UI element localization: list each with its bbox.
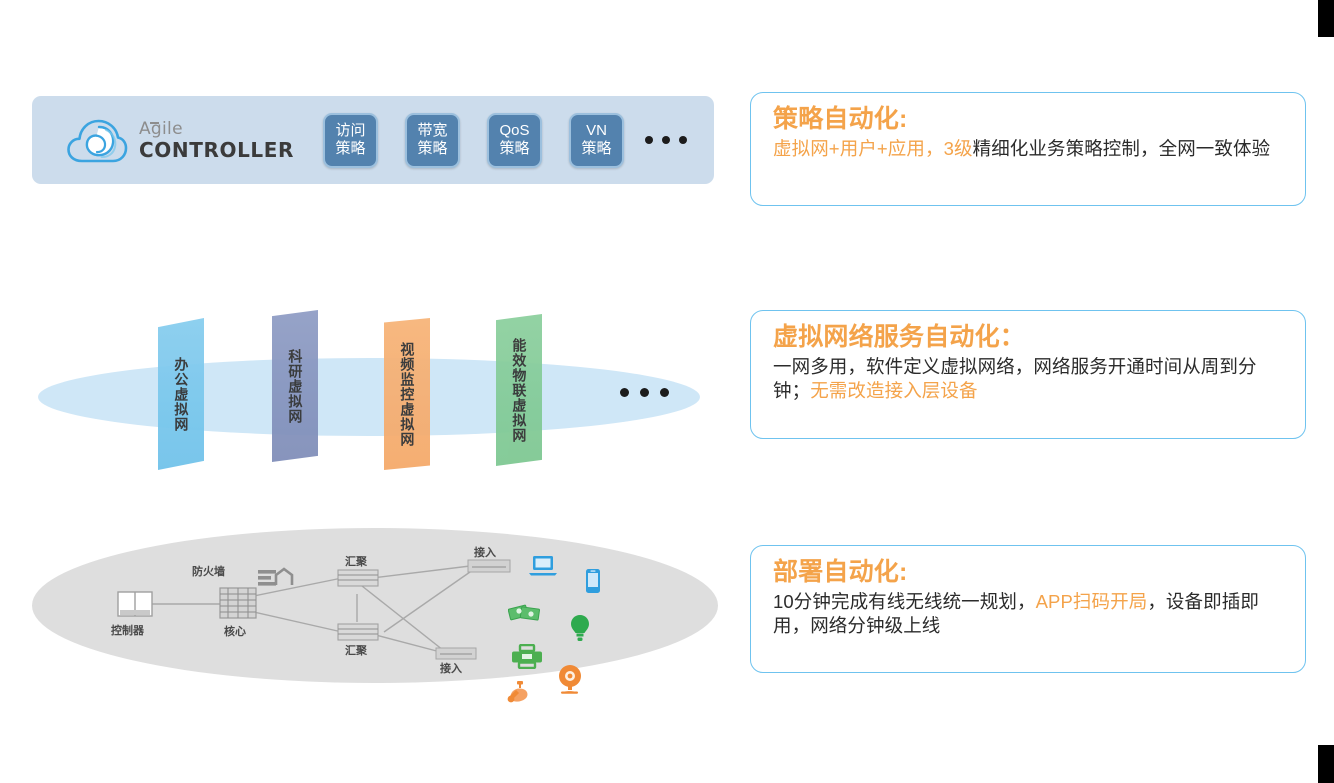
topology-node-aggregation-top bbox=[338, 570, 378, 586]
topology-node-access-top bbox=[468, 560, 510, 572]
topology-node-controller bbox=[118, 592, 152, 616]
dot bbox=[645, 136, 653, 144]
logo-brand-bottom: CONTROLLER bbox=[139, 140, 294, 160]
card-body-highlight: 无需改造接入层设备 bbox=[810, 380, 977, 401]
dot bbox=[679, 136, 687, 144]
topology-node-access-bottom bbox=[436, 648, 476, 659]
bottom-right-edge-mark bbox=[1318, 745, 1334, 783]
bulb-icon bbox=[570, 614, 590, 642]
agile-controller-logo: Agile CONTROLLER bbox=[66, 116, 294, 164]
topology-node-firewall bbox=[258, 569, 292, 586]
chip-line1: 访问 bbox=[336, 122, 366, 140]
virtual-network-ellipsis-icon bbox=[620, 388, 669, 397]
card-body-highlight: APP扫码开局 bbox=[1036, 591, 1148, 612]
agile-controller-bar: Agile CONTROLLER 访问 策略 带宽 策略 QoS 策略 VN 策… bbox=[32, 96, 714, 184]
logo-brand-top: Agile bbox=[139, 121, 183, 138]
feature-card-virtual-network-service-automation: 虚拟网络服务自动化： 一网多用，软件定义虚拟网络，网络服务开通时间从周到分钟；无… bbox=[750, 310, 1306, 439]
topology-label-firewall: 防火墙 bbox=[192, 563, 225, 579]
chip-line2: 策略 bbox=[336, 140, 366, 158]
policy-chip-qos[interactable]: QoS 策略 bbox=[487, 113, 542, 168]
chip-line1: VN bbox=[586, 122, 607, 140]
topology-label-access-top: 接入 bbox=[474, 544, 496, 560]
card-body-text: 10分钟完成有线无线统一规划， bbox=[773, 591, 1036, 612]
plane-sheet: 科研虚拟网 bbox=[272, 310, 318, 462]
topology-label-aggregation-bottom: 汇聚 bbox=[345, 642, 367, 658]
cloud-swirl-icon bbox=[66, 116, 128, 164]
logo-brand-top-text: Agile bbox=[139, 119, 183, 139]
plane-label: 科研虚拟网 bbox=[272, 310, 318, 462]
card-body-highlight: 虚拟网+用户+应用，3级 bbox=[773, 138, 973, 159]
plane-sheet: 能效物联虚拟网 bbox=[496, 314, 542, 466]
card-body: 10分钟完成有线无线统一规划，APP扫码开局，设备即插即用，网络分钟级上线 bbox=[773, 590, 1285, 640]
cash-icon bbox=[508, 600, 542, 624]
surveillance-camera-icon bbox=[506, 680, 536, 704]
card-title: 虚拟网络服务自动化： bbox=[773, 323, 1285, 353]
virtual-network-plane-research[interactable]: 科研虚拟网 bbox=[272, 310, 318, 462]
card-body-text: 精细化业务策略控制，全网一致体验 bbox=[973, 138, 1271, 159]
printer-icon bbox=[510, 644, 544, 669]
tablet-icon bbox=[584, 568, 602, 594]
feature-card-policy-automation: 策略自动化: 虚拟网+用户+应用，3级精细化业务策略控制，全网一致体验 bbox=[750, 92, 1306, 206]
topology-label-controller: 控制器 bbox=[111, 622, 144, 638]
plane-label: 能效物联虚拟网 bbox=[496, 314, 542, 466]
card-body: 一网多用，软件定义虚拟网络，网络服务开通时间从周到分钟；无需改造接入层设备 bbox=[773, 355, 1285, 405]
virtual-network-plane-video-surveillance[interactable]: 视频监控虚拟网 bbox=[384, 318, 430, 470]
webcam-icon bbox=[556, 664, 584, 694]
chip-line1: 带宽 bbox=[418, 122, 448, 140]
plane-sheet: 视频监控虚拟网 bbox=[384, 318, 430, 470]
policy-chip-bandwidth[interactable]: 带宽 策略 bbox=[405, 113, 460, 168]
topology-label-core: 核心 bbox=[224, 623, 246, 639]
topology-label-aggregation-top: 汇聚 bbox=[345, 553, 367, 569]
topology-links-and-nodes bbox=[32, 528, 722, 688]
macron-accent bbox=[150, 122, 159, 124]
card-body: 虚拟网+用户+应用，3级精细化业务策略控制，全网一致体验 bbox=[773, 137, 1285, 162]
virtual-network-plane-office[interactable]: 办公虚拟网 bbox=[158, 318, 204, 470]
policy-chip-access[interactable]: 访问 策略 bbox=[323, 113, 378, 168]
chip-line2: 策略 bbox=[418, 140, 448, 158]
dot bbox=[640, 388, 649, 397]
feature-card-deployment-automation: 部署自动化: 10分钟完成有线无线统一规划，APP扫码开局，设备即插即用，网络分… bbox=[750, 545, 1306, 673]
card-title: 策略自动化: bbox=[773, 105, 1285, 135]
laptop-icon bbox=[528, 554, 558, 578]
dot bbox=[620, 388, 629, 397]
dot bbox=[662, 136, 670, 144]
virtual-network-backdrop-ellipse bbox=[38, 358, 700, 436]
topology-label-access-bottom: 接入 bbox=[440, 660, 462, 676]
policy-chip-ellipsis-icon bbox=[645, 136, 687, 144]
card-title: 部署自动化: bbox=[773, 558, 1285, 588]
chip-line2: 策略 bbox=[500, 140, 530, 158]
plane-sheet: 办公虚拟网 bbox=[158, 318, 204, 470]
topology-node-aggregation-bottom bbox=[338, 624, 378, 640]
topology-link-group bbox=[152, 566, 470, 654]
policy-chip-vn[interactable]: VN 策略 bbox=[569, 113, 624, 168]
virtual-network-plane-energy-iot[interactable]: 能效物联虚拟网 bbox=[496, 314, 542, 466]
top-right-edge-mark bbox=[1318, 0, 1334, 37]
chip-line2: 策略 bbox=[582, 140, 612, 158]
network-topology-diagram: 控制器 防火墙 核心 汇聚 汇聚 接入 接入 bbox=[32, 528, 722, 688]
plane-label: 办公虚拟网 bbox=[158, 318, 204, 470]
topology-node-core bbox=[220, 588, 256, 618]
chip-line1: QoS bbox=[500, 122, 530, 140]
policy-chip-group: 访问 策略 带宽 策略 QoS 策略 VN 策略 bbox=[323, 113, 687, 168]
virtual-network-diagram: 办公虚拟网 科研虚拟网 视频监控虚拟网 能效物联虚拟网 bbox=[32, 296, 722, 496]
dot bbox=[660, 388, 669, 397]
plane-label: 视频监控虚拟网 bbox=[384, 318, 430, 470]
